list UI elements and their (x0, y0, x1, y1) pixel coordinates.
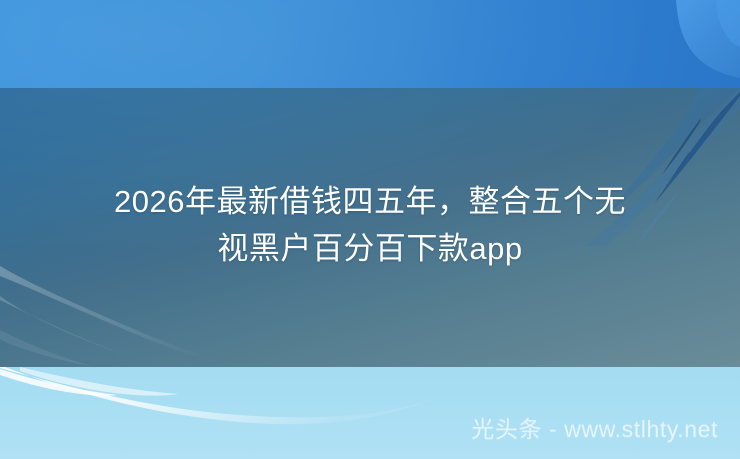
banner-title: 2026年最新借钱四五年，整合五个无 视黑户百分百下款app (0, 178, 740, 272)
site-watermark: 光头条 - www.stlhty.net (471, 414, 718, 444)
top-blue-band (0, 0, 740, 88)
article-banner-image: 2026年最新借钱四五年，整合五个无 视黑户百分百下款app 光头条 - www… (0, 0, 740, 459)
title-line-1: 2026年最新借钱四五年，整合五个无 (0, 178, 740, 225)
title-line-2: 视黑户百分百下款app (0, 225, 740, 272)
bottom-lightblue-band (0, 367, 740, 459)
